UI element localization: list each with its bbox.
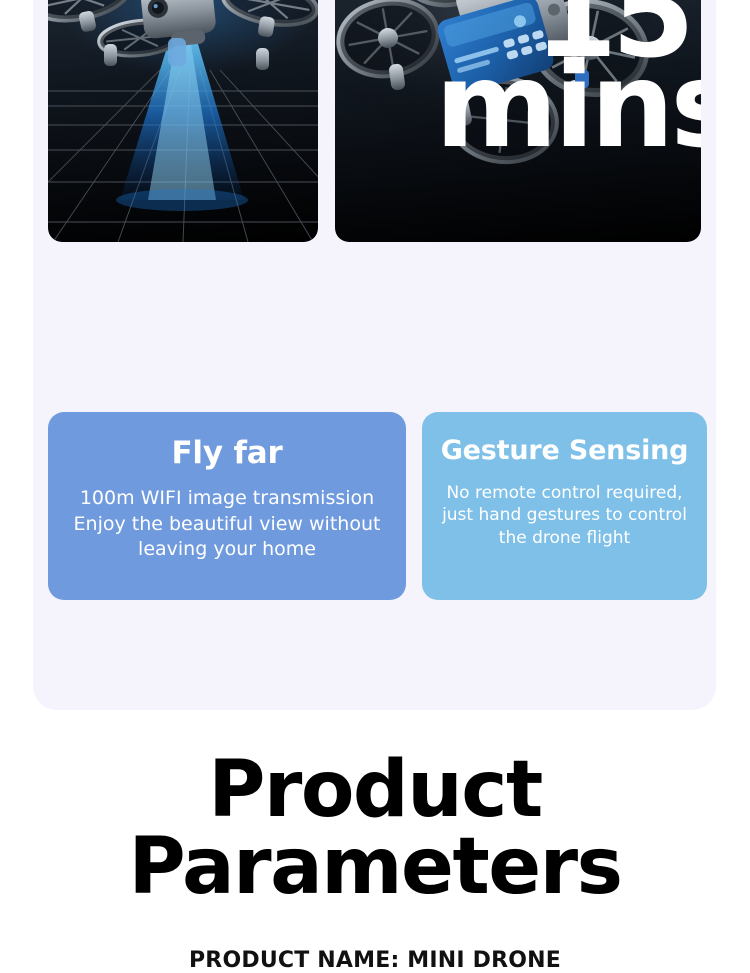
feature-card-title: Gesture Sensing [422,436,707,466]
feature-card-line-3: leaving your home [48,537,406,562]
product-parameters-heading: Product Parameters [0,752,750,906]
feature-card-module-battery[interactable]: 15 mins module battery Modular battery d… [335,0,701,242]
feature-card-gesture-sensing[interactable]: Gesture Sensing No remote control requir… [422,412,707,600]
feature-card-line-1: 100m WIFI image transmission [48,486,406,511]
battery-minutes-word: mins [435,58,701,152]
feature-section-panel: fixed height Maintain high altitude hove… [33,0,716,710]
blue-feature-card-row: Fly far 100m WIFI image transmission Enj… [48,412,731,600]
feature-card-line-1: No remote control required, [422,482,707,505]
dark-feature-card-row: fixed height Maintain high altitude hove… [48,0,701,242]
feature-card-line-2: just hand gestures to control [422,504,707,527]
feature-card-line-2: Enjoy the beautiful view without [48,512,406,537]
feature-card-fly-far[interactable]: Fly far 100m WIFI image transmission Enj… [48,412,406,600]
feature-card-line-3: the drone flight [422,527,707,550]
drone-hovering-illustration [48,0,318,242]
product-name-spec: PRODUCT NAME: MINI DRONE [0,948,750,973]
feature-card-fixed-height[interactable]: fixed height Maintain high altitude hove… [48,0,318,242]
heading-line-2: Parameters [0,829,750,906]
feature-card-title: Fly far [48,436,406,470]
